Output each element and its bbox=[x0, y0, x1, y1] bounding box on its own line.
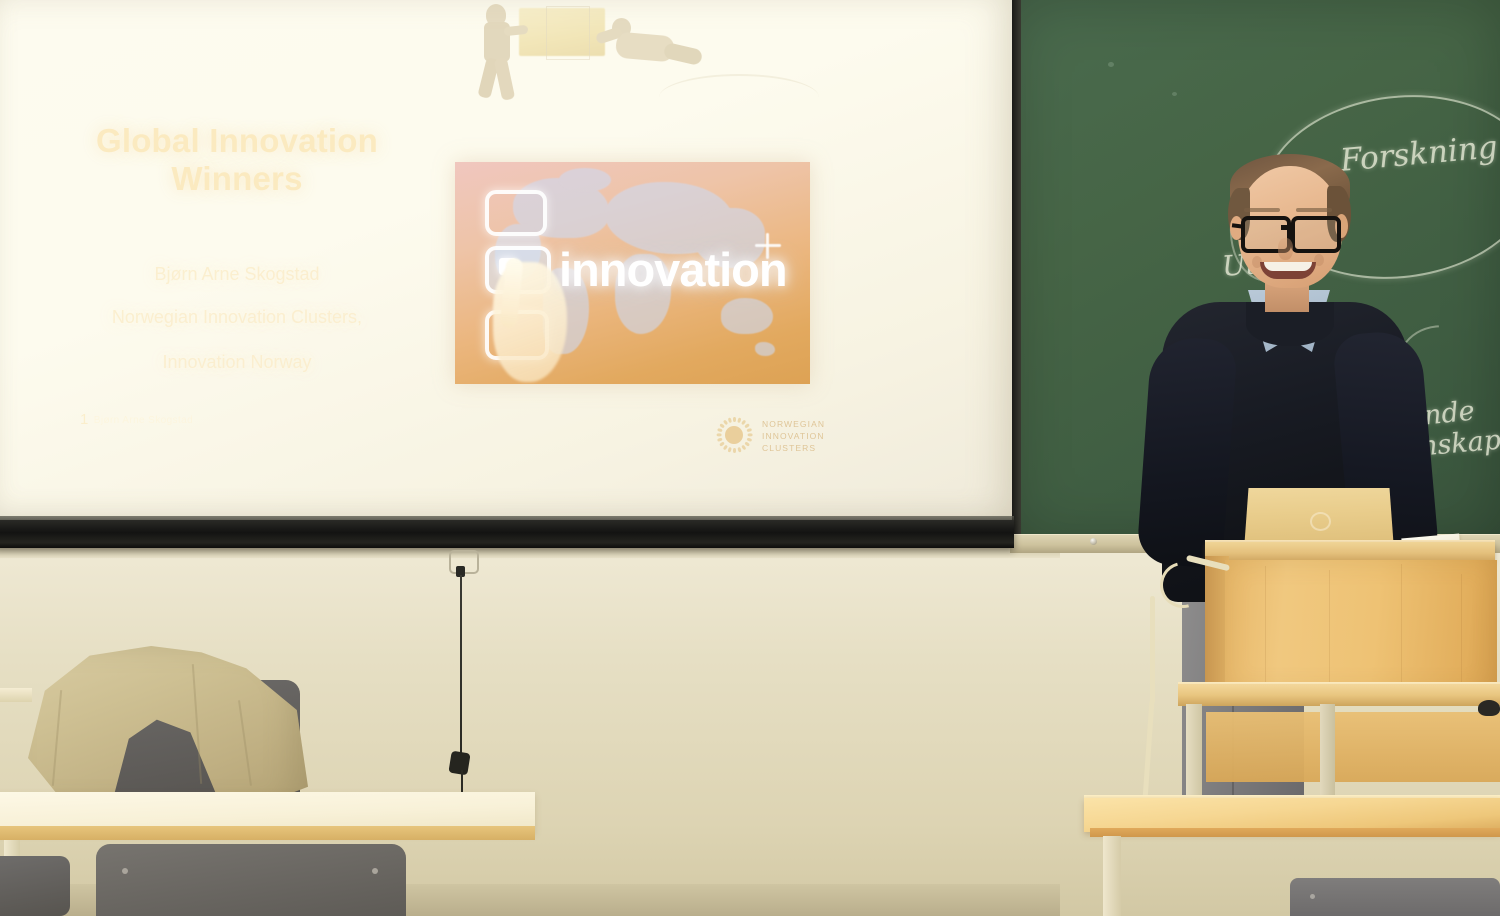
logo-line-2: INNOVATION bbox=[762, 430, 825, 442]
wall-trim bbox=[0, 548, 1060, 558]
slide-illustration-pushers bbox=[464, 0, 814, 116]
projection-screen: Global Innovation Winners Bjørn Arne Sko… bbox=[0, 0, 1012, 536]
speaker-person bbox=[1120, 150, 1450, 810]
glasses-lens-right bbox=[1291, 216, 1341, 253]
slide-subtitle-line-1: Bjørn Arne Skogstad bbox=[42, 264, 432, 285]
ledge-screw bbox=[1090, 538, 1097, 545]
chair-rivet bbox=[122, 868, 128, 874]
innovation-wordmark: innovation bbox=[559, 242, 787, 297]
chair-foreground-right bbox=[1290, 878, 1500, 916]
slide-footer-text: Bjørn Arne Skogstad bbox=[94, 415, 193, 426]
logo-text-block: NORWEGIAN INNOVATION CLUSTERS bbox=[762, 418, 825, 454]
chair-rivet bbox=[372, 868, 378, 874]
checkbox-graphic-1 bbox=[485, 190, 547, 236]
screen-pull-cord-lower bbox=[461, 770, 463, 792]
screen-pull-cord[interactable] bbox=[460, 575, 462, 755]
podium-table-top bbox=[1178, 684, 1500, 706]
sunburst-icon bbox=[716, 417, 752, 453]
speaker-left-arm bbox=[1136, 335, 1238, 568]
podium-table-panel bbox=[1206, 712, 1500, 782]
chalkboard-frame bbox=[1012, 0, 1021, 540]
podium-top bbox=[1205, 542, 1495, 562]
presentation-slide: Global Innovation Winners Bjørn Arne Sko… bbox=[0, 0, 1012, 520]
lecture-hall-photo: Forskning Utd nde nskap bbox=[0, 0, 1500, 916]
slide-subtitle-line-3: Innovation Norway bbox=[42, 352, 432, 373]
screen-bottom-bar bbox=[0, 520, 1014, 548]
side-table bbox=[0, 688, 32, 702]
speaker-smile bbox=[1260, 262, 1316, 279]
slide-footer: 1Bjørn Arne Skogstad bbox=[80, 411, 193, 428]
front-desk-leg bbox=[1103, 836, 1121, 916]
speaker-nose bbox=[1278, 238, 1293, 260]
slide-subtitle-line-2: Norwegian Innovation Clusters, bbox=[42, 307, 432, 328]
podium-table-leg bbox=[1320, 704, 1335, 804]
slide-title: Global Innovation Winners bbox=[42, 122, 432, 199]
chair-left-front bbox=[96, 844, 406, 916]
hp-logo-icon bbox=[1310, 512, 1331, 531]
slide-innovation-image: innovation bbox=[455, 162, 810, 384]
podium-body bbox=[1225, 560, 1497, 692]
logo-line-3: CLUSTERS bbox=[762, 442, 825, 454]
chair-left-far bbox=[0, 856, 70, 916]
student-desk-left-edge bbox=[0, 826, 535, 840]
logo-line-1: NORWEGIAN bbox=[762, 418, 825, 430]
norwegian-innovation-clusters-logo: NORWEGIAN INNOVATION CLUSTERS bbox=[716, 413, 866, 457]
front-desk-top bbox=[1084, 798, 1500, 832]
computer-mouse[interactable] bbox=[1478, 700, 1500, 716]
chair-rivet bbox=[1310, 894, 1315, 899]
slide-page-number: 1 bbox=[80, 411, 89, 428]
front-desk-edge-bottom bbox=[1090, 828, 1500, 837]
screen-cord-weight bbox=[448, 751, 470, 776]
